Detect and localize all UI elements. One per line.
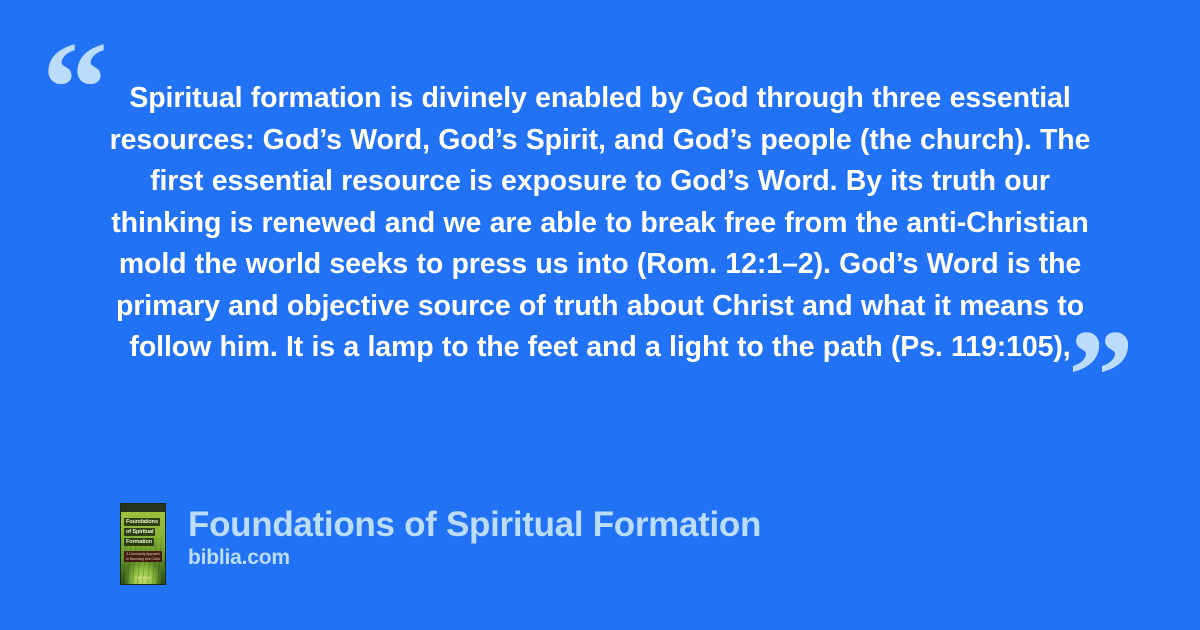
closing-quote-icon: ” [1068, 310, 1134, 442]
attribution-footer: Foundations of Spiritual Formation A Com… [120, 503, 761, 585]
book-cover-title-line-2: of Spiritual [124, 528, 155, 536]
quote-text: Spiritual formation is divinely enabled … [100, 78, 1100, 369]
quote-block: Spiritual formation is divinely enabled … [100, 78, 1100, 369]
book-cover-subtitle: A Community Approach to Becoming Like Ch… [124, 551, 162, 562]
attribution-text: Foundations of Spiritual Formation bibli… [188, 503, 761, 571]
book-title: Foundations of Spiritual Formation [188, 505, 761, 545]
quote-card: “ Spiritual formation is divinely enable… [0, 0, 1200, 630]
book-cover-thumbnail: Foundations of Spiritual Formation A Com… [120, 503, 166, 585]
book-cover-title-line-1: Foundations [124, 518, 160, 526]
book-cover-title-line-3: Formation [124, 538, 154, 546]
book-cover-author: Paul Pettit [121, 576, 165, 580]
opening-quote-icon: “ [42, 22, 108, 154]
site-name[interactable]: biblia.com [188, 545, 761, 571]
book-cover-top-band [121, 504, 165, 512]
